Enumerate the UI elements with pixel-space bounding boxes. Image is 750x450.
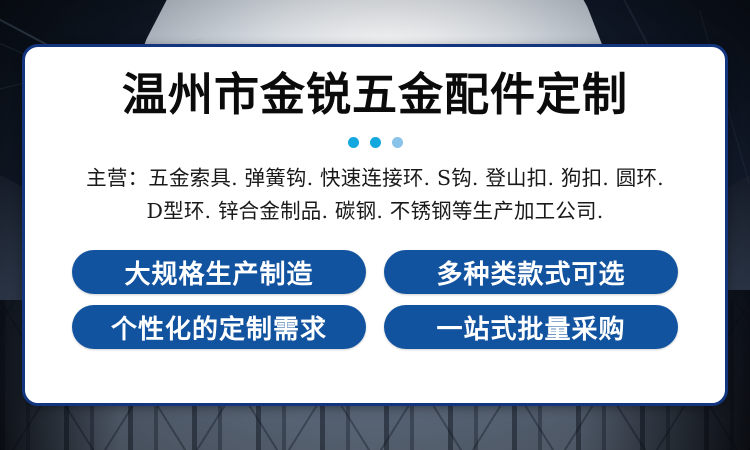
business-scope-text: 主营：五金索具. 弹簧钩. 快速连接环. S钩. 登山扣. 狗扣. 圆环. D型… [25, 162, 725, 228]
divider-dot-1 [348, 137, 359, 148]
feature-pill-cell: 个性化的定制需求 [64, 305, 374, 349]
page-title: 温州市金锐五金配件定制 [25, 47, 725, 120]
feature-pill-custom-requirements[interactable]: 个性化的定制需求 [72, 305, 366, 349]
business-scope-line-2: D型环. 锌合金制品. 碳钢. 不锈钢等生产加工公司. [39, 195, 711, 228]
promo-banner: 温州市金锐五金配件定制 主营：五金索具. 弹簧钩. 快速连接环. S钩. 登山扣… [0, 0, 750, 450]
content-card: 温州市金锐五金配件定制 主营：五金索具. 弹簧钩. 快速连接环. S钩. 登山扣… [22, 44, 728, 406]
feature-pill-one-stop-bulk-purchase[interactable]: 一站式批量采购 [384, 305, 678, 349]
dot-divider [25, 137, 725, 148]
business-scope-line-1: 主营：五金索具. 弹簧钩. 快速连接环. S钩. 登山扣. 狗扣. 圆环. [39, 162, 711, 195]
divider-dot-3 [392, 137, 403, 148]
feature-pill-cell: 大规格生产制造 [64, 250, 374, 294]
feature-pill-large-scale-manufacturing[interactable]: 大规格生产制造 [72, 250, 366, 294]
feature-pill-grid: 大规格生产制造 多种类款式可选 个性化的定制需求 一站式批量采购 [64, 250, 686, 349]
feature-pill-cell: 一站式批量采购 [376, 305, 686, 349]
divider-dot-2 [370, 137, 381, 148]
feature-pill-cell: 多种类款式可选 [376, 250, 686, 294]
feature-pill-many-styles[interactable]: 多种类款式可选 [384, 250, 678, 294]
